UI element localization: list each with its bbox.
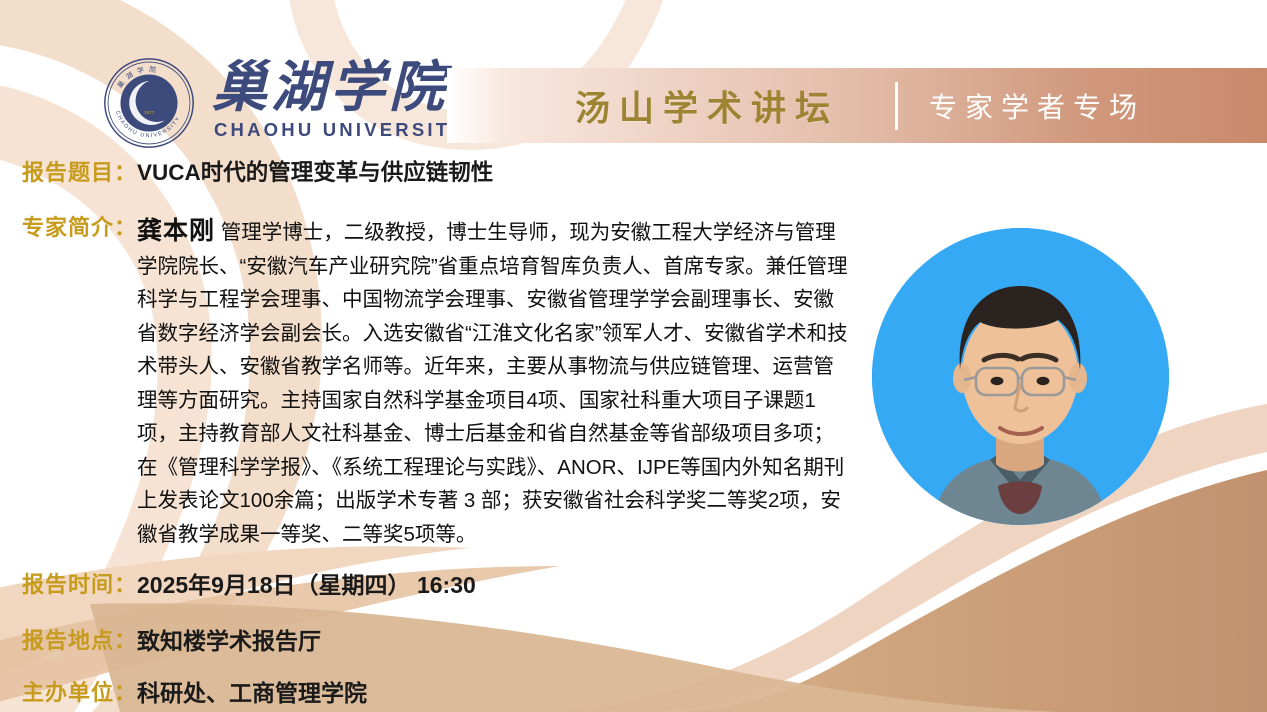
banner-title: 汤山学术讲坛 bbox=[575, 80, 839, 131]
speaker-bio-text: 管理学博士，二级教授，博士生导师，现为安徽工程大学经济与管理学院院长、“安徽汽车… bbox=[137, 221, 848, 546]
chaohu-university-seal-icon: 1977 巢湖学院 CHAOHU UNIVERSITY bbox=[103, 57, 195, 149]
report-time-value: 2025年9月18日（星期四） 16:30 bbox=[137, 570, 476, 600]
report-place-value: 致知楼学术报告厅 bbox=[137, 626, 321, 656]
speaker-portrait bbox=[872, 228, 1169, 525]
speaker-bio-label: 专家简介： bbox=[22, 211, 137, 243]
wordmark-chinese: 巢湖学院 bbox=[212, 58, 462, 118]
poster-canvas: 1977 巢湖学院 CHAOHU UNIVERSITY 巢湖学院 CHAOHU … bbox=[0, 0, 1267, 712]
report-host-label: 主办单位： bbox=[22, 678, 137, 708]
report-place-label: 报告地点： bbox=[22, 626, 137, 656]
speaker-bio-body: 龚本刚 管理学博士，二级教授，博士生导师，现为安徽工程大学经济与管理学院院长、“… bbox=[137, 211, 849, 551]
svg-text:1977: 1977 bbox=[144, 110, 155, 116]
speaker-bio-row: 专家简介： 龚本刚 管理学博士，二级教授，博士生导师，现为安徽工程大学经济与管理… bbox=[22, 211, 872, 551]
banner-subtitle: 专家学者专场 bbox=[929, 86, 1145, 126]
report-host-value: 科研处、工商管理学院 bbox=[137, 678, 367, 708]
report-time-label: 报告时间： bbox=[22, 570, 137, 600]
report-title-label: 报告题目： bbox=[22, 158, 137, 188]
university-wordmark: 巢湖学院 CHAOHU UNIVERSITY bbox=[212, 58, 462, 150]
report-host-row: 主办单位： 科研处、工商管理学院 bbox=[22, 678, 367, 708]
speaker-name: 龚本刚 bbox=[137, 217, 215, 245]
report-title-value: VUCA时代的管理变革与供应链韧性 bbox=[137, 158, 493, 188]
banner-divider bbox=[895, 82, 898, 130]
poster-header: 1977 巢湖学院 CHAOHU UNIVERSITY 巢湖学院 CHAOHU … bbox=[0, 0, 1267, 150]
report-title-row: 报告题目： VUCA时代的管理变革与供应链韧性 bbox=[22, 158, 493, 188]
report-time-row: 报告时间： 2025年9月18日（星期四） 16:30 bbox=[22, 570, 476, 600]
wordmark-english: CHAOHU UNIVERSITY bbox=[214, 119, 462, 141]
lecture-series-banner: 汤山学术讲坛 专家学者专场 bbox=[447, 68, 1267, 143]
report-place-row: 报告地点： 致知楼学术报告厅 bbox=[22, 626, 321, 656]
